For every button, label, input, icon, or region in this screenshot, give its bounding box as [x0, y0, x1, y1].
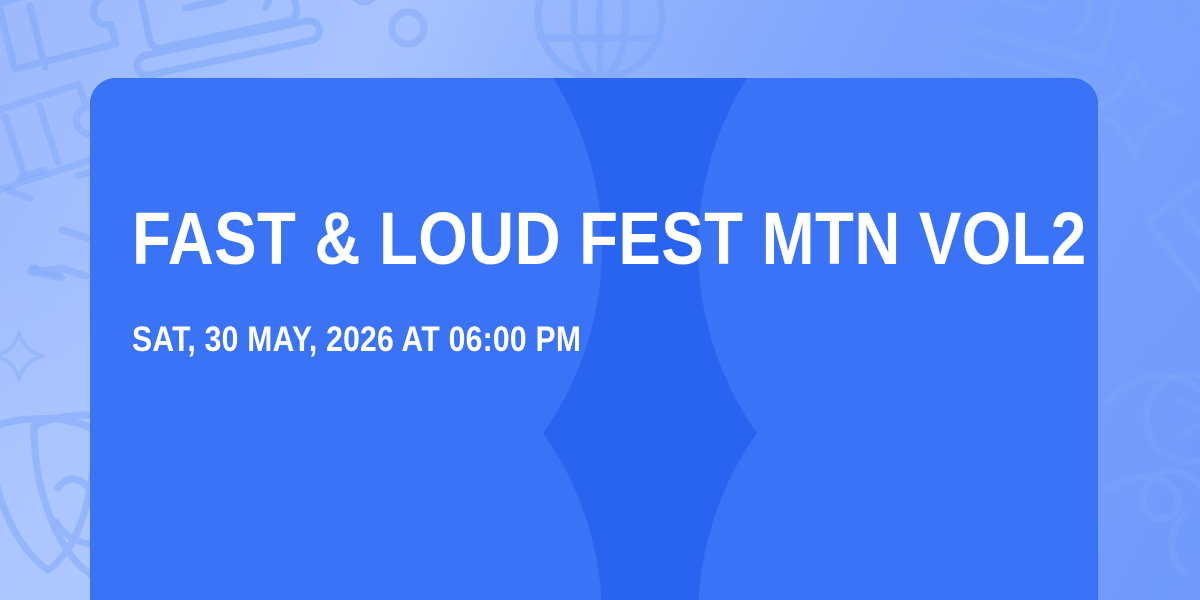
sparkle-icon: [1154, 0, 1200, 37]
sparkle-icon: [0, 332, 43, 380]
globe-icon: [538, 0, 662, 78]
event-title: FAST & LOUD FEST MTN VOL2: [132, 202, 927, 276]
event-card[interactable]: FAST & LOUD FEST MTN VOL2 SAT, 30 MAY, 2…: [90, 78, 1098, 600]
event-card-content: FAST & LOUD FEST MTN VOL2 SAT, 30 MAY, 2…: [132, 78, 1056, 600]
event-banner: FAST & LOUD FEST MTN VOL2 SAT, 30 MAY, 2…: [0, 0, 1200, 600]
ticket-icon: [0, 0, 117, 75]
laptop-icon: [114, 0, 321, 77]
ring-icon: [354, 0, 424, 44]
ticket-icon: [1148, 148, 1200, 288]
event-date: SAT, 30 MAY, 2026 AT 06:00 PM: [132, 276, 927, 357]
sparkle-icon: [1086, 62, 1182, 158]
confetti-dash-icon: [20, 170, 100, 276]
confetti-dash-icon: [8, 190, 62, 278]
